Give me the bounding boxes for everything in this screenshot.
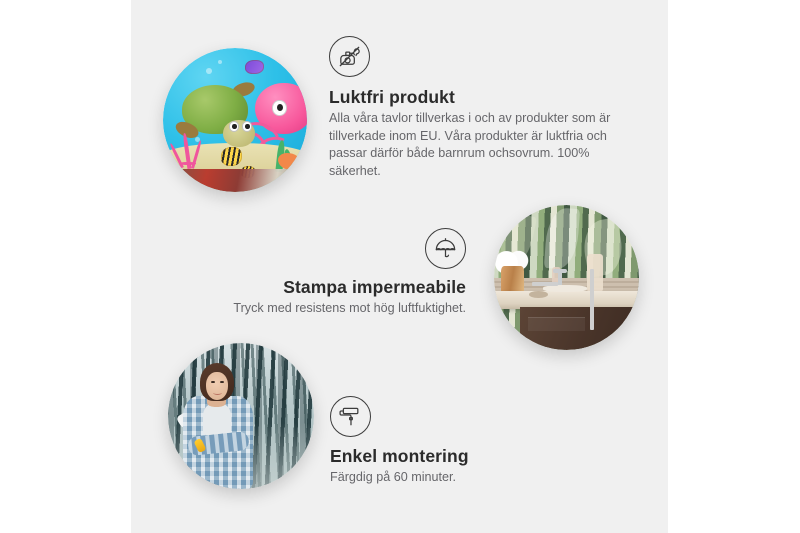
octopus-eye: [272, 100, 286, 116]
feature-description: Alla våra tavlor tillverkas i och av pro…: [329, 110, 629, 180]
icon-row: [215, 228, 466, 269]
icon-row: [330, 396, 620, 437]
faucet-object: [558, 269, 562, 286]
feature-block-odourless: Luktfri produkt Alla våra tavlor tillver…: [329, 36, 629, 180]
eye: [220, 381, 224, 383]
no-fragrance-icon: [329, 36, 370, 77]
door-handle: [590, 269, 594, 330]
yellow-fish-icon: [221, 147, 243, 166]
eye: [211, 381, 215, 383]
feature-image-bathroom: [494, 205, 639, 350]
soap-dish: [529, 291, 548, 298]
inner-tshirt: [203, 403, 231, 435]
icon-row: [329, 36, 629, 77]
face: [206, 372, 228, 400]
purple-fish-icon: [245, 60, 264, 74]
umbrella-icon: [425, 228, 466, 269]
coral-icon: [172, 129, 215, 169]
feature-block-easy-install: Enkel montering Färgdig på 60 minuter.: [330, 396, 620, 487]
feature-block-waterproof: Stampa impermeabile Tryck med resistens …: [215, 228, 466, 318]
feature-title: Luktfri produkt: [329, 87, 629, 108]
photo-bottom-strip: [163, 169, 307, 192]
vanity-cabinet: [520, 307, 639, 351]
turtle-eye: [229, 121, 239, 131]
bubble-icon: [218, 60, 222, 64]
feature-title: Enkel montering: [330, 446, 620, 467]
paint-roller-icon: [330, 396, 371, 437]
feature-image-underwater: [163, 48, 307, 192]
feature-description: Tryck med resistens mot hög luftfuktighe…: [215, 300, 466, 318]
turtle-eye: [242, 121, 252, 131]
bubble-icon: [195, 137, 200, 142]
cabinet-drawer: [528, 317, 585, 331]
feature-description: Färgdig på 60 minuter.: [330, 469, 620, 487]
product-feature-panel: Luktfri produkt Alla våra tavlor tillver…: [0, 0, 800, 533]
feature-image-installer: [168, 343, 314, 489]
bubble-icon: [206, 68, 212, 74]
drawer-handle: [532, 282, 558, 286]
feature-title: Stampa impermeabile: [215, 277, 466, 298]
